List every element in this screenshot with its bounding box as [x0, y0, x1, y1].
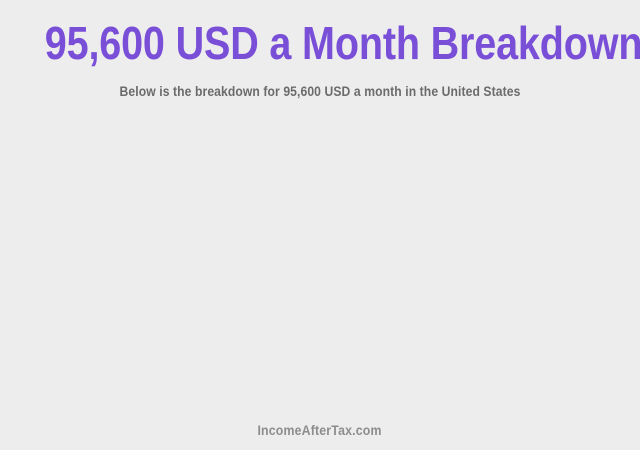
footer-brand-label: IncomeAfterTax.com — [258, 422, 382, 439]
breakdown-content-area — [0, 115, 640, 415]
breakdown-page: 95,600 USD a Month Breakdown Below is th… — [0, 0, 640, 450]
page-subtitle: Below is the breakdown for 95,600 USD a … — [32, 84, 608, 100]
page-title: 95,600 USD a Month Breakdown — [45, 19, 595, 67]
page-footer: IncomeAfterTax.com — [0, 422, 640, 440]
